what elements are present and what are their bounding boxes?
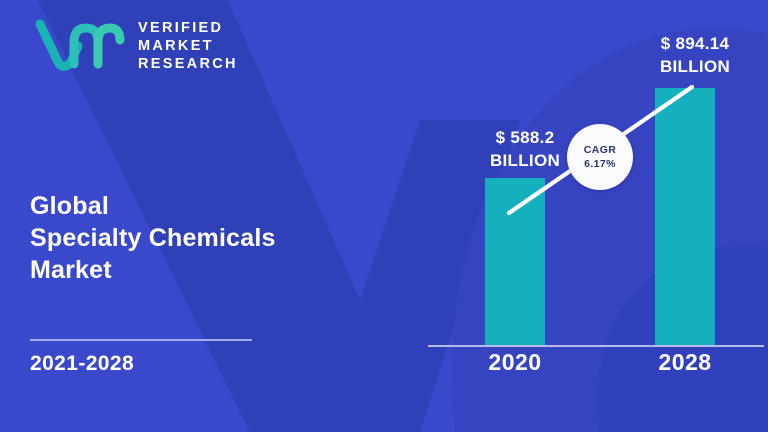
infographic-canvas: VERIFIED MARKET RESEARCH Global Specialt… [0,0,768,432]
growth-arrow-icon [0,0,768,432]
cagr-value: 6.17% [584,157,616,171]
cagr-badge: CAGR 6.17% [567,124,633,190]
cagr-label: CAGR [584,143,617,157]
